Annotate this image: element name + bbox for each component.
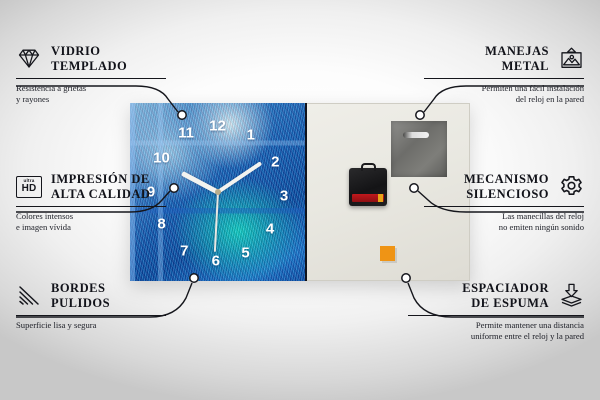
clock-numeral-6: 6 <box>212 254 220 269</box>
callout-title: ESPACIADORDE ESPUMA <box>462 281 549 311</box>
clock-numeral-1: 1 <box>247 128 255 143</box>
battery-compartment <box>352 194 384 202</box>
ultra-hd-large-label: HD <box>22 184 37 194</box>
callout-desc: Colores intensose imagen vívida <box>16 211 166 234</box>
callout-impresion-alta-calidad: ultra HD IMPRESIÓN DEALTA CALIDAD Colore… <box>16 172 166 234</box>
clock-numeral-7: 7 <box>180 243 188 258</box>
callout-title: BORDESPULIDOS <box>51 281 110 311</box>
metal-hanger-plate <box>391 121 447 177</box>
callout-desc: Resistencia a grietasy rayones <box>16 83 166 106</box>
callout-bordes-pulidos: BORDESPULIDOS Superficie lisa y segura <box>16 281 166 331</box>
infographic-canvas: 12 1 2 3 4 5 6 7 8 9 10 11 <box>0 0 600 400</box>
callout-title: IMPRESIÓN DEALTA CALIDAD <box>51 172 150 202</box>
callout-rule <box>16 315 166 316</box>
diamond-icon <box>16 47 42 71</box>
mechanism-hook <box>361 163 376 171</box>
clock-second-hand <box>214 192 219 252</box>
callout-desc: Permite mantener una distanciauniforme e… <box>408 320 584 343</box>
callout-title: MECANISMOSILENCIOSO <box>464 172 549 202</box>
product-photo: 12 1 2 3 4 5 6 7 8 9 10 11 <box>130 103 470 281</box>
ultra-hd-icon: ultra HD <box>16 175 42 199</box>
clock-numeral-5: 5 <box>241 245 249 260</box>
callout-rule <box>16 206 166 207</box>
callout-espaciador-espuma: ESPACIADORDE ESPUMA Permite mantener una… <box>408 281 584 343</box>
clock-numeral-2: 2 <box>271 154 279 169</box>
picture-frame-icon <box>558 47 584 71</box>
callout-title: MANEJASMETAL <box>485 44 549 74</box>
callout-rule <box>16 78 166 79</box>
clock-center-cap <box>215 189 221 195</box>
callout-manejas-metal: MANEJASMETAL Permiten una fácil instalac… <box>424 44 584 106</box>
clock-numeral-3: 3 <box>280 188 288 203</box>
clock-numeral-4: 4 <box>266 222 274 237</box>
callout-mecanismo-silencioso: MECANISMOSILENCIOSO Las manecillas del r… <box>424 172 584 234</box>
clock-numeral-11: 11 <box>178 126 194 141</box>
callout-desc: Permiten una fácil instalacióndel reloj … <box>424 83 584 106</box>
clock-numeral-12: 12 <box>209 119 226 134</box>
clock-minute-hand <box>216 161 261 193</box>
callout-vidrio-templado: VIDRIOTEMPLADO Resistencia a grietasy ra… <box>16 44 166 106</box>
callout-rule <box>424 78 584 79</box>
callout-title: VIDRIOTEMPLADO <box>51 44 127 74</box>
callout-desc: Superficie lisa y segura <box>16 320 166 331</box>
callout-rule <box>424 206 584 207</box>
foam-spacer <box>380 246 395 261</box>
clock-hour-hand <box>181 171 219 194</box>
callout-desc: Las manecillas del relojno emiten ningún… <box>424 211 584 234</box>
foam-spacer-icon <box>558 284 584 308</box>
hanger-slot <box>403 132 429 138</box>
clock-numeral-10: 10 <box>153 151 170 166</box>
polished-edges-icon <box>16 284 42 308</box>
quartz-mechanism <box>349 168 387 206</box>
gear-icon <box>558 175 584 199</box>
callout-rule <box>408 315 584 316</box>
